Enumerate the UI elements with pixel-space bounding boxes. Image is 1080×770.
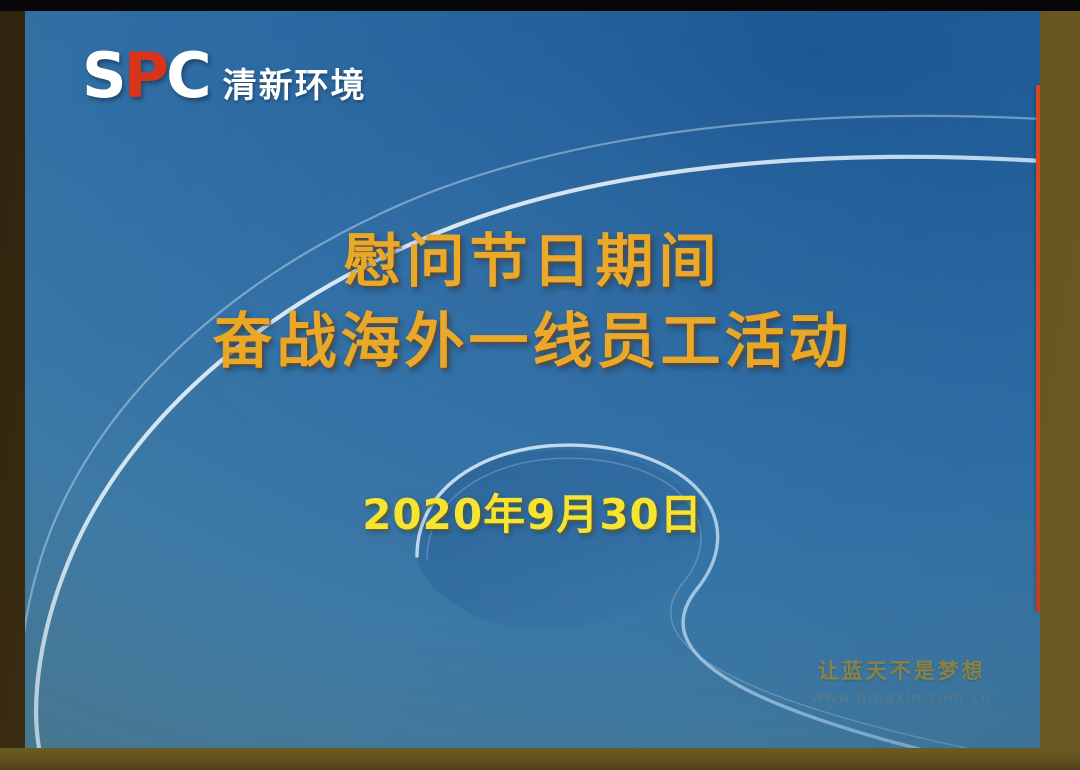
logo-letter-p: P — [124, 39, 166, 112]
projected-slide-photo: SPC 清新环境 慰问节日期间 奋战海外一线员工活动 2020年9月30日 让蓝… — [0, 0, 1080, 770]
title-line-2: 奋战海外一线员工活动 — [25, 301, 1040, 384]
bottom-olive-strip — [0, 748, 1080, 770]
logo-letter-s: S — [82, 39, 124, 112]
slide-title: 慰问节日期间 奋战海外一线员工活动 — [25, 221, 1040, 384]
logo-wordmark: 清新环境 — [223, 69, 367, 103]
footer-block: 让蓝天不是梦想 www.qingxin.com.cn — [812, 655, 992, 706]
company-slogan: 让蓝天不是梦想 — [812, 655, 992, 685]
top-dark-strip — [0, 0, 1080, 11]
title-line-1: 慰问节日期间 — [25, 221, 1040, 301]
logo-letter-c: C — [166, 39, 209, 112]
company-url: www.qingxin.com.cn — [812, 690, 992, 706]
brand-logo: SPC 清新环境 — [82, 45, 367, 107]
slide-date: 2020年9月30日 — [25, 481, 1040, 542]
slide-canvas: SPC 清新环境 慰问节日期间 奋战海外一线员工活动 2020年9月30日 让蓝… — [25, 11, 1040, 748]
logo-mark: SPC — [82, 45, 209, 107]
